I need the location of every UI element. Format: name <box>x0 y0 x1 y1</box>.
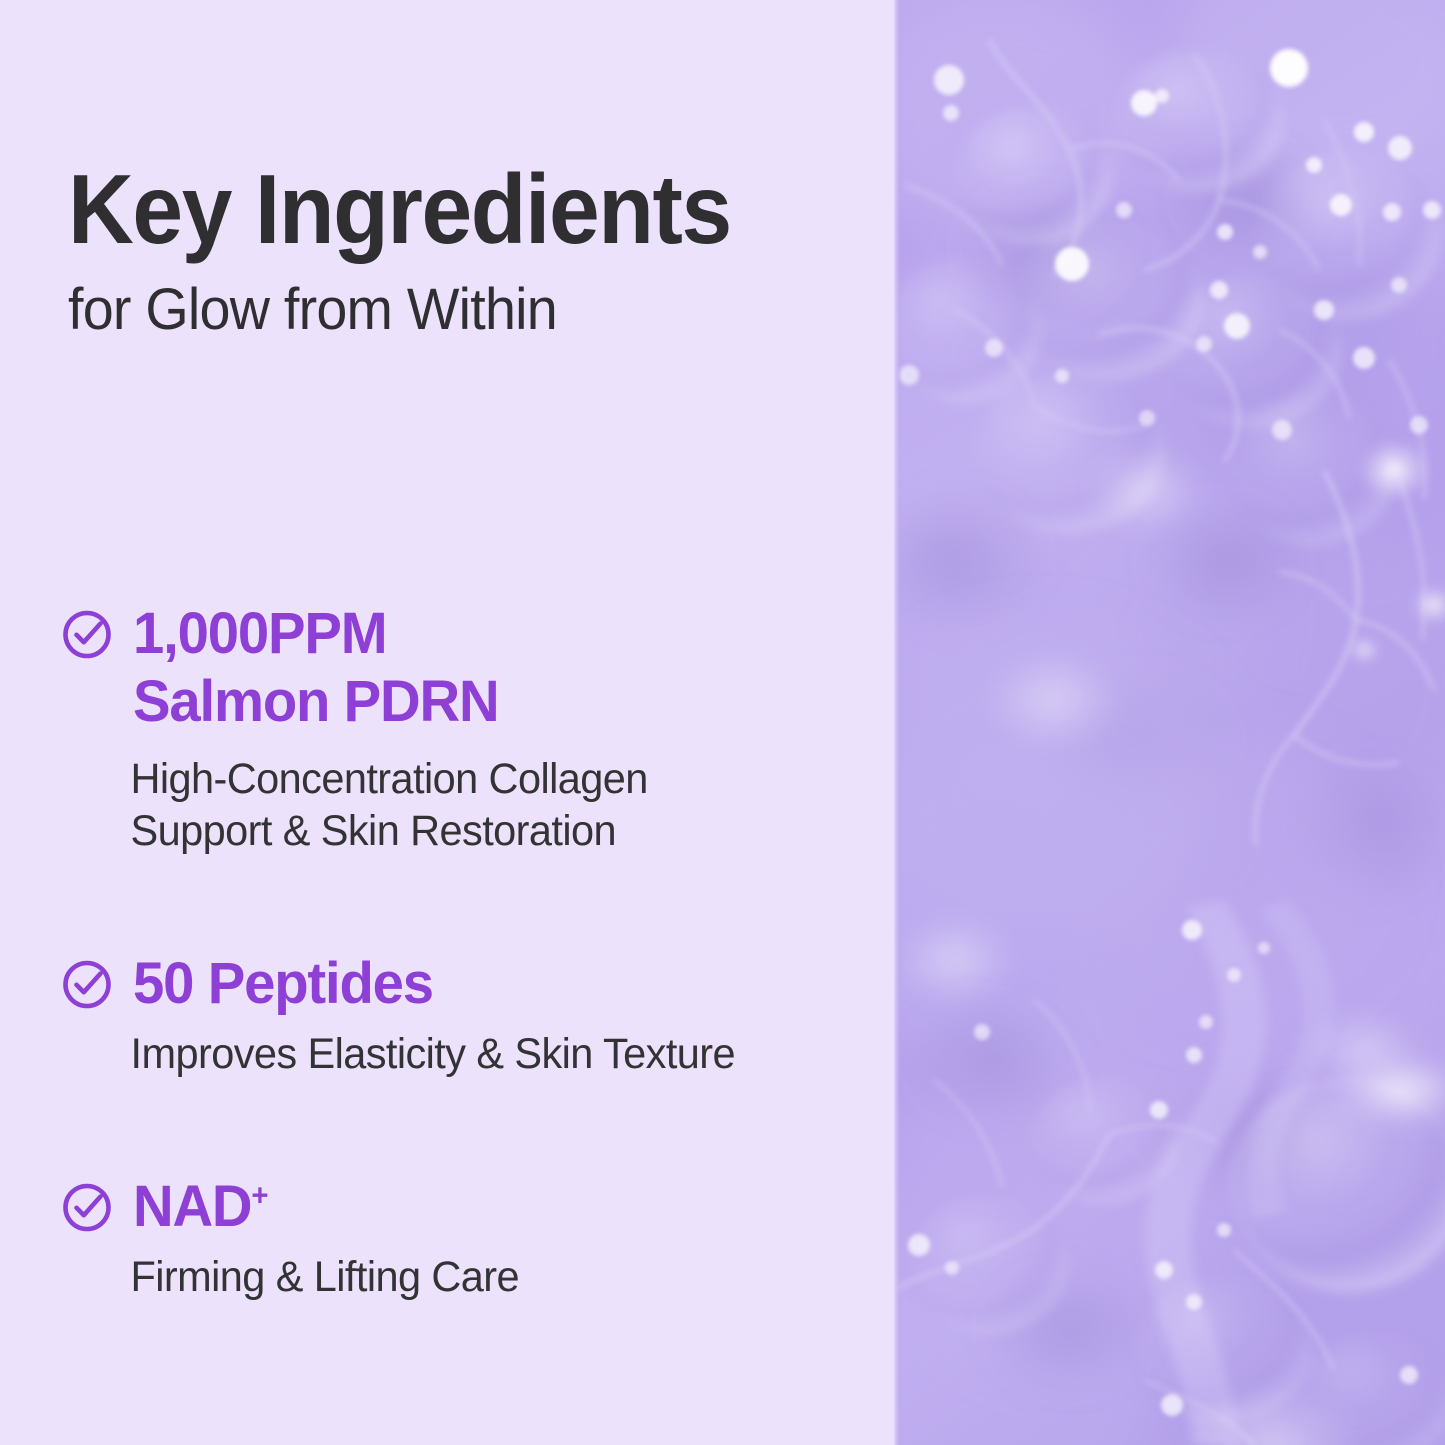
ingredient-heading: 50 Peptides <box>133 950 433 1018</box>
ingredient-description: Firming & Lifting Care <box>62 1251 844 1303</box>
page-title: Key Ingredients <box>68 160 812 258</box>
ingredient-list: 1,000PPM Salmon PDRN High-Concentration … <box>62 600 872 1304</box>
check-circle-icon <box>62 609 112 659</box>
key-ingredients-infographic: Key Ingredients for Glow from Within 1,0… <box>0 0 1445 1445</box>
page-subtitle: for Glow from Within <box>68 280 836 341</box>
ingredient-heading-line-1: NAD <box>133 1174 251 1239</box>
check-circle-icon <box>62 1182 112 1232</box>
ingredient-heading-line-1: 1,000PPM <box>133 601 386 666</box>
ingredient-heading-row: 50 Peptides <box>62 950 872 1018</box>
serum-gel-texture-image <box>894 0 1445 1445</box>
list-item: 1,000PPM Salmon PDRN High-Concentration … <box>62 600 872 858</box>
gel-texture-graphic <box>894 0 1445 1445</box>
ingredient-heading-line-2: Salmon PDRN <box>133 669 498 734</box>
ingredient-description-line-1: Firming & Lifting Care <box>131 1253 520 1301</box>
ingredient-heading: 1,000PPM Salmon PDRN <box>133 600 498 737</box>
content-panel: Key Ingredients for Glow from Within 1,0… <box>0 0 894 1445</box>
ingredient-heading-row: 1,000PPM Salmon PDRN <box>62 600 872 737</box>
ingredient-description: High-Concentration Collagen Support & Sk… <box>62 753 844 858</box>
ingredient-heading-superscript: + <box>251 1179 267 1212</box>
header: Key Ingredients for Glow from Within <box>68 160 868 341</box>
list-item: NAD+ Firming & Lifting Care <box>62 1173 872 1304</box>
ingredient-heading-row: NAD+ <box>62 1173 872 1241</box>
ingredient-description: Improves Elasticity & Skin Texture <box>62 1028 844 1080</box>
ingredient-description-line-2: Support & Skin Restoration <box>131 807 616 855</box>
ingredient-heading-line-1: 50 Peptides <box>133 951 433 1016</box>
ingredient-heading: NAD+ <box>133 1173 267 1241</box>
ingredient-description-line-1: High-Concentration Collagen <box>131 755 648 803</box>
list-item: 50 Peptides Improves Elasticity & Skin T… <box>62 950 872 1081</box>
check-circle-icon <box>62 959 112 1009</box>
ingredient-description-line-1: Improves Elasticity & Skin Texture <box>131 1030 736 1078</box>
